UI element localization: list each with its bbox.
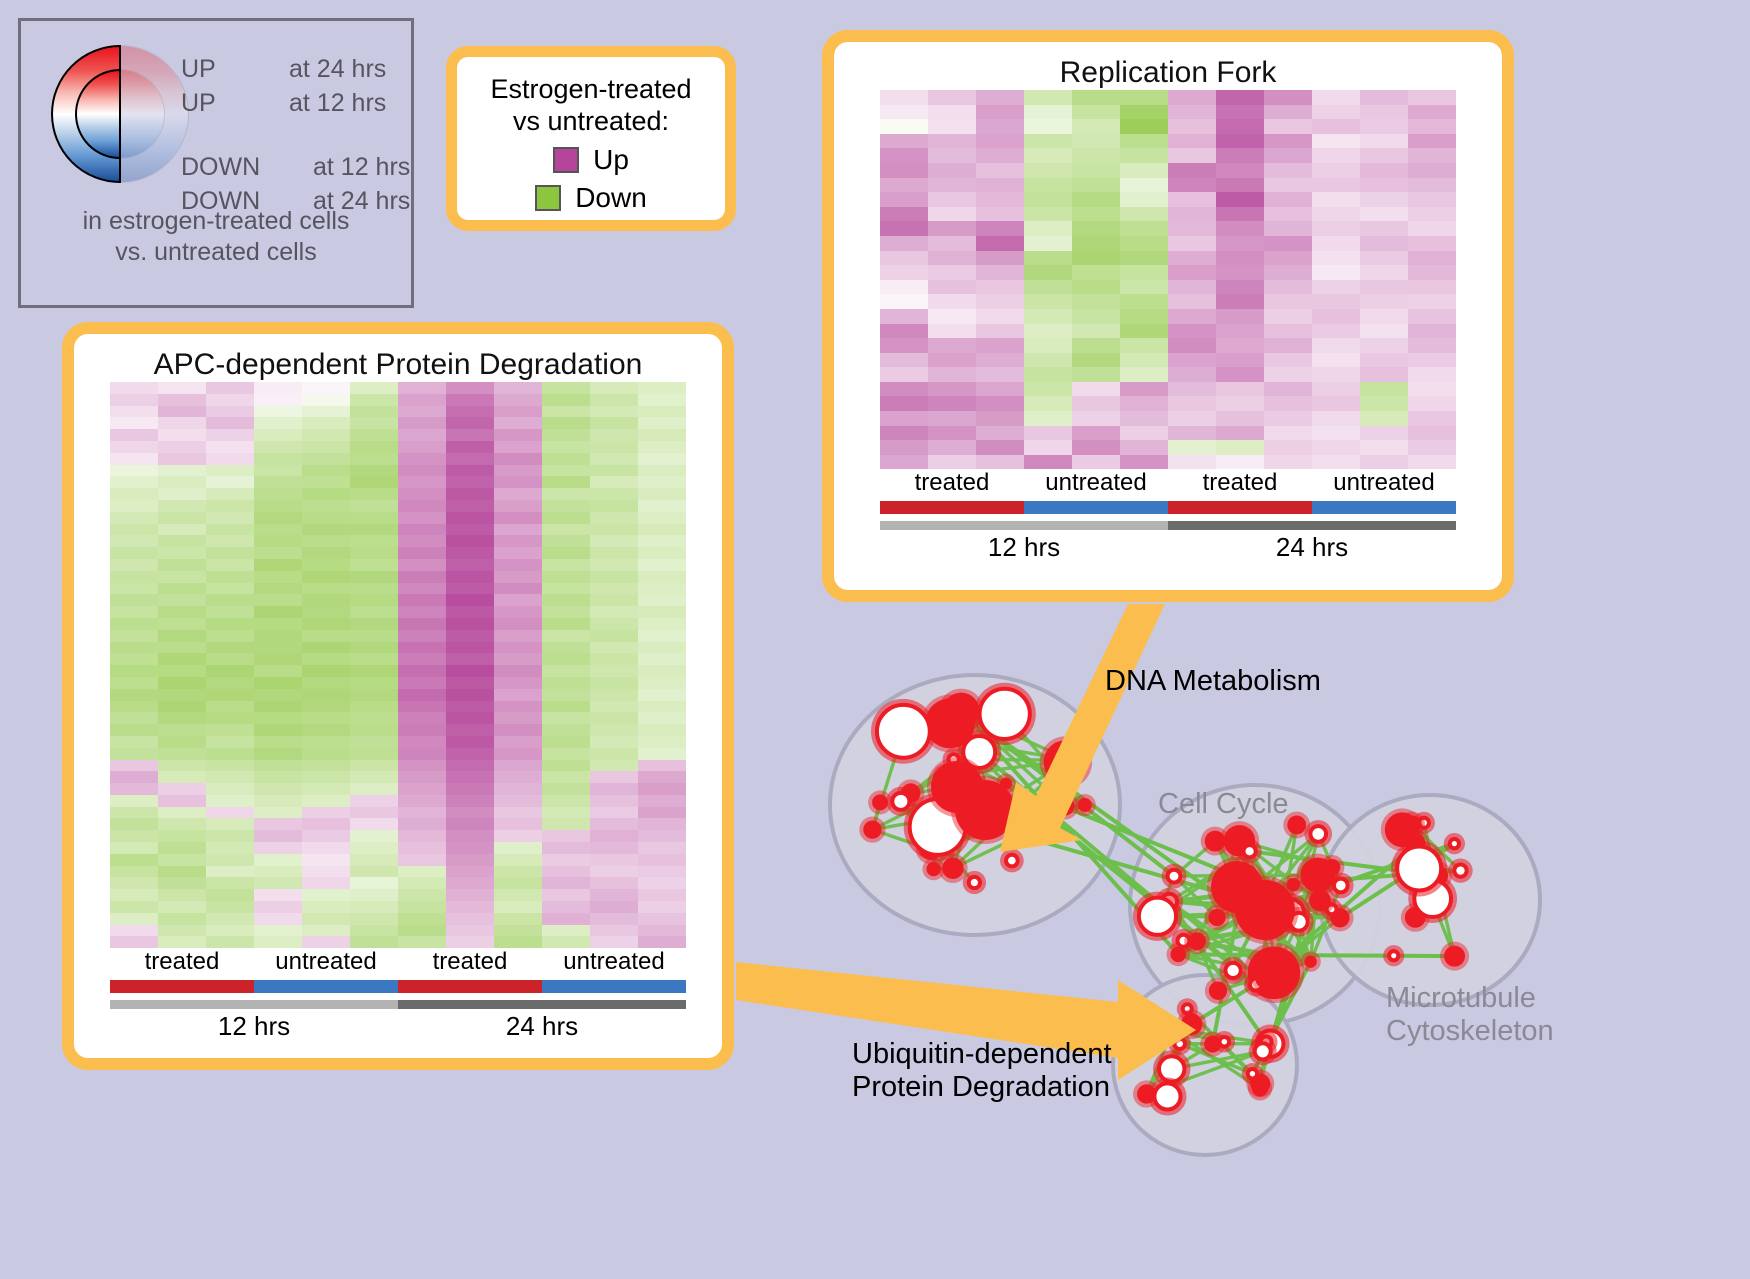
heatmap-cell bbox=[1408, 426, 1456, 441]
condition-colour-segment bbox=[880, 501, 1024, 514]
heatmap-cell bbox=[1120, 338, 1168, 353]
heatmap-cell bbox=[590, 547, 638, 559]
heatmap-cell bbox=[1264, 411, 1312, 426]
heatmap-cell bbox=[158, 901, 206, 913]
heatmap-cell bbox=[1072, 178, 1120, 193]
heatmap-cell bbox=[638, 429, 686, 441]
heatmap-cell bbox=[446, 394, 494, 406]
heatmap-cell bbox=[446, 500, 494, 512]
heatmap-cell bbox=[254, 642, 302, 654]
heatmap-cell bbox=[1408, 367, 1456, 382]
heatmap-cell bbox=[158, 854, 206, 866]
heatmap-cell bbox=[590, 630, 638, 642]
heatmap-cell bbox=[880, 265, 928, 280]
heatmap-cell bbox=[542, 877, 590, 889]
heatmap-cell bbox=[880, 324, 928, 339]
heatmap-cell bbox=[206, 653, 254, 665]
heatmap-cell bbox=[302, 465, 350, 477]
heatmap-cell bbox=[638, 783, 686, 795]
heatmap-cell bbox=[590, 736, 638, 748]
heatmap-cell bbox=[928, 455, 976, 470]
heatmap-cell bbox=[494, 642, 542, 654]
heatmap-cell bbox=[302, 701, 350, 713]
condition-label: untreated bbox=[254, 948, 398, 976]
heatmap-cell bbox=[976, 134, 1024, 149]
heatmap-cell bbox=[590, 642, 638, 654]
heatmap-cell bbox=[542, 830, 590, 842]
heatmap-cell bbox=[446, 476, 494, 488]
heatmap-cell bbox=[638, 866, 686, 878]
heatmap-cell bbox=[1168, 426, 1216, 441]
heatmap-cell bbox=[590, 724, 638, 736]
heatmap-cell bbox=[446, 488, 494, 500]
heatmap-cell bbox=[494, 689, 542, 701]
heatmap-cell bbox=[1024, 163, 1072, 178]
heatmap-cell bbox=[158, 783, 206, 795]
condition-label: treated bbox=[880, 469, 1024, 497]
cluster-label-cell-cycle: Cell Cycle bbox=[1158, 788, 1289, 821]
heatmap-cell bbox=[302, 901, 350, 913]
heatmap-cell bbox=[1024, 119, 1072, 134]
heatmap-cell bbox=[158, 618, 206, 630]
heatmap-cell bbox=[1024, 178, 1072, 193]
heatmap-cell bbox=[494, 866, 542, 878]
heatmap-cell bbox=[302, 583, 350, 595]
heatmap-cell bbox=[590, 913, 638, 925]
heatmap-cell bbox=[1216, 163, 1264, 178]
heatmap-cell bbox=[206, 830, 254, 842]
heatmap-cell bbox=[446, 441, 494, 453]
heatmap-cell bbox=[254, 748, 302, 760]
heatmap-cell bbox=[110, 701, 158, 713]
heatmap-cell bbox=[494, 736, 542, 748]
heatmap-cell bbox=[1312, 192, 1360, 207]
heatmap-cell bbox=[880, 163, 928, 178]
heatmap-cell bbox=[976, 148, 1024, 163]
heatmap-cell bbox=[302, 807, 350, 819]
heatmap-cell bbox=[350, 559, 398, 571]
heatmap-cell bbox=[398, 842, 446, 854]
heatmap-cell bbox=[590, 512, 638, 524]
heatmap-cell bbox=[1216, 90, 1264, 105]
heatmap-cell bbox=[638, 712, 686, 724]
heatmap-cell bbox=[1168, 105, 1216, 120]
heatmap-cell bbox=[206, 630, 254, 642]
heatmap-cell bbox=[350, 689, 398, 701]
heatmap-cell bbox=[446, 854, 494, 866]
heatmap-cell bbox=[590, 689, 638, 701]
heatmap-cell bbox=[446, 866, 494, 878]
heatmap-cell bbox=[542, 936, 590, 948]
heatmap-cell bbox=[110, 594, 158, 606]
heatmap-cell bbox=[398, 441, 446, 453]
heatmap-cell bbox=[928, 236, 976, 251]
heatmap-cell bbox=[928, 426, 976, 441]
heatmap-cell bbox=[542, 535, 590, 547]
heatmap-cell bbox=[880, 455, 928, 470]
heatmap-cell bbox=[1312, 119, 1360, 134]
legend-footnote: in estrogen-treated cells vs. untreated … bbox=[21, 206, 411, 269]
heatmap-cell bbox=[254, 559, 302, 571]
heatmap-cell bbox=[302, 889, 350, 901]
heatmap-cell bbox=[1408, 309, 1456, 324]
heatmap-cell bbox=[446, 701, 494, 713]
heatmap-cell bbox=[1024, 338, 1072, 353]
heatmap-cell bbox=[1072, 396, 1120, 411]
heatmap-cell bbox=[880, 294, 928, 309]
heatmap-cell bbox=[976, 265, 1024, 280]
heatmap-cell bbox=[1312, 455, 1360, 470]
heatmap-cell bbox=[976, 396, 1024, 411]
wheel-row-1-time: at 12 hrs bbox=[289, 89, 386, 118]
up-down-legend-panel: Estrogen-treated vs untreated: Up Down bbox=[446, 46, 736, 231]
heatmap-cell bbox=[302, 441, 350, 453]
heatmap-cell bbox=[158, 877, 206, 889]
heatmap-cell bbox=[494, 677, 542, 689]
heatmap-cell bbox=[206, 500, 254, 512]
heatmap-cell bbox=[254, 854, 302, 866]
heatmap-cell bbox=[446, 807, 494, 819]
heatmap-cell bbox=[350, 512, 398, 524]
heatmap-cell bbox=[302, 512, 350, 524]
heatmap-cell bbox=[638, 512, 686, 524]
heatmap-cell bbox=[880, 148, 928, 163]
heatmap-cell bbox=[1264, 426, 1312, 441]
heatmap-cell bbox=[110, 453, 158, 465]
heatmap-cell bbox=[158, 394, 206, 406]
heatmap-cell bbox=[110, 795, 158, 807]
heatmap-cell bbox=[1024, 426, 1072, 441]
heatmap-cell bbox=[206, 382, 254, 394]
heatmap-cell bbox=[638, 642, 686, 654]
heatmap-cell bbox=[302, 594, 350, 606]
heatmap-cell bbox=[158, 547, 206, 559]
heatmap-cell bbox=[110, 724, 158, 736]
heatmap-cell bbox=[542, 866, 590, 878]
heatmap-cell bbox=[1120, 309, 1168, 324]
wheel-axis bbox=[119, 45, 121, 183]
heatmap-cell bbox=[302, 500, 350, 512]
heatmap-cell bbox=[398, 500, 446, 512]
heatmap-cell bbox=[638, 441, 686, 453]
heatmap-cell bbox=[254, 830, 302, 842]
heatmap-cell bbox=[158, 465, 206, 477]
heatmap-cell bbox=[638, 665, 686, 677]
heatmap-cell bbox=[1312, 294, 1360, 309]
heatmap-cell bbox=[398, 760, 446, 772]
heatmap-cell bbox=[494, 653, 542, 665]
heatmap-cell bbox=[638, 901, 686, 913]
heatmap-cell bbox=[398, 866, 446, 878]
heatmap-cell bbox=[1408, 236, 1456, 251]
heatmap-cell bbox=[1168, 309, 1216, 324]
heatmap-cell bbox=[1168, 455, 1216, 470]
heatmap-cell bbox=[254, 512, 302, 524]
heatmap-cell bbox=[494, 748, 542, 760]
heatmap-cell bbox=[1024, 440, 1072, 455]
heatmap-cell bbox=[880, 367, 928, 382]
heatmap-cell bbox=[110, 476, 158, 488]
heatmap-cell bbox=[158, 665, 206, 677]
heatmap-cell bbox=[446, 712, 494, 724]
heatmap-cell bbox=[1408, 163, 1456, 178]
heatmap-cell bbox=[880, 280, 928, 295]
heatmap-cell bbox=[302, 382, 350, 394]
heatmap-cell bbox=[1168, 221, 1216, 236]
heatmap-cell bbox=[1072, 455, 1120, 470]
wheel-row-1-direction: UP bbox=[181, 89, 216, 118]
heatmap-cell bbox=[254, 901, 302, 913]
heatmap-cell bbox=[1360, 148, 1408, 163]
heatmap-cell bbox=[1264, 236, 1312, 251]
condition-colour-segment bbox=[1168, 501, 1312, 514]
heatmap-cell bbox=[1072, 148, 1120, 163]
heatmap-cell bbox=[590, 406, 638, 418]
heatmap-cell bbox=[638, 465, 686, 477]
heatmap-cell bbox=[1360, 411, 1408, 426]
heatmap-cell bbox=[1168, 178, 1216, 193]
heatmap-cell bbox=[398, 712, 446, 724]
heatmap-cell bbox=[1360, 90, 1408, 105]
heatmap-cell bbox=[1312, 178, 1360, 193]
heatmap-cell bbox=[638, 653, 686, 665]
heatmap-cell bbox=[1312, 163, 1360, 178]
replication-fork-condition-labels: treateduntreatedtreateduntreated bbox=[880, 469, 1456, 497]
heatmap-cell bbox=[638, 500, 686, 512]
heatmap-cell bbox=[1360, 455, 1408, 470]
heatmap-cell bbox=[542, 465, 590, 477]
heatmap-cell bbox=[110, 417, 158, 429]
heatmap-cell bbox=[446, 925, 494, 937]
heatmap-cell bbox=[590, 760, 638, 772]
heatmap-cell bbox=[494, 618, 542, 630]
heatmap-cell bbox=[302, 771, 350, 783]
heatmap-cell bbox=[398, 854, 446, 866]
up-down-legend-heading-line1: Estrogen-treated bbox=[457, 73, 725, 105]
heatmap-cell bbox=[302, 748, 350, 760]
heatmap-cell bbox=[350, 571, 398, 583]
heatmap-cell bbox=[446, 382, 494, 394]
wheel-row-2-direction: DOWN bbox=[181, 153, 260, 182]
heatmap-cell bbox=[1360, 396, 1408, 411]
heatmap-cell bbox=[928, 221, 976, 236]
heatmap-cell bbox=[976, 207, 1024, 222]
heatmap-cell bbox=[158, 524, 206, 536]
heatmap-cell bbox=[446, 571, 494, 583]
heatmap-cell bbox=[638, 453, 686, 465]
heatmap-cell bbox=[1360, 309, 1408, 324]
heatmap-cell bbox=[590, 748, 638, 760]
heatmap-cell bbox=[206, 571, 254, 583]
apc-degradation-heatmap bbox=[110, 382, 686, 948]
heatmap-cell bbox=[254, 453, 302, 465]
heatmap-cell bbox=[398, 783, 446, 795]
heatmap-cell bbox=[494, 571, 542, 583]
heatmap-cell bbox=[638, 559, 686, 571]
heatmap-cell bbox=[110, 677, 158, 689]
heatmap-cell bbox=[350, 524, 398, 536]
heatmap-cell bbox=[350, 665, 398, 677]
heatmap-cell bbox=[494, 783, 542, 795]
heatmap-cell bbox=[494, 406, 542, 418]
heatmap-cell bbox=[206, 618, 254, 630]
heatmap-cell bbox=[976, 411, 1024, 426]
heatmap-cell bbox=[350, 547, 398, 559]
heatmap-cell bbox=[350, 866, 398, 878]
time-label: 24 hrs bbox=[398, 1011, 686, 1042]
heatmap-cell bbox=[542, 606, 590, 618]
heatmap-cell bbox=[350, 783, 398, 795]
heatmap-cell bbox=[110, 783, 158, 795]
heatmap-cell bbox=[1072, 338, 1120, 353]
time-colour-segment bbox=[110, 1000, 398, 1009]
heatmap-cell bbox=[446, 630, 494, 642]
heatmap-cell bbox=[1264, 338, 1312, 353]
heatmap-cell bbox=[254, 677, 302, 689]
heatmap-cell bbox=[1216, 134, 1264, 149]
heatmap-cell bbox=[638, 571, 686, 583]
heatmap-cell bbox=[398, 571, 446, 583]
heatmap-cell bbox=[350, 901, 398, 913]
heatmap-cell bbox=[1024, 207, 1072, 222]
up-down-legend-heading-line2: vs untreated: bbox=[457, 105, 725, 137]
heatmap-cell bbox=[158, 771, 206, 783]
heatmap-cell bbox=[1264, 353, 1312, 368]
heatmap-cell bbox=[350, 736, 398, 748]
heatmap-cell bbox=[1264, 163, 1312, 178]
apc-degradation-panel: APC-dependent Protein Degradation treate… bbox=[62, 322, 734, 1070]
heatmap-cell bbox=[976, 367, 1024, 382]
heatmap-cell bbox=[398, 748, 446, 760]
heatmap-cell bbox=[880, 338, 928, 353]
heatmap-cell bbox=[446, 606, 494, 618]
heatmap-cell bbox=[1024, 309, 1072, 324]
heatmap-cell bbox=[446, 429, 494, 441]
heatmap-cell bbox=[1120, 178, 1168, 193]
heatmap-cell bbox=[542, 913, 590, 925]
heatmap-cell bbox=[1312, 236, 1360, 251]
heatmap-cell bbox=[590, 842, 638, 854]
heatmap-cell bbox=[446, 547, 494, 559]
heatmap-cell bbox=[1264, 265, 1312, 280]
heatmap-cell bbox=[302, 830, 350, 842]
heatmap-cell bbox=[590, 677, 638, 689]
heatmap-cell bbox=[1072, 411, 1120, 426]
heatmap-cell bbox=[638, 724, 686, 736]
heatmap-cell bbox=[638, 936, 686, 948]
heatmap-cell bbox=[206, 689, 254, 701]
heatmap-cell bbox=[446, 877, 494, 889]
heatmap-cell bbox=[446, 736, 494, 748]
heatmap-cell bbox=[302, 653, 350, 665]
heatmap-cell bbox=[206, 453, 254, 465]
heatmap-cell bbox=[398, 547, 446, 559]
heatmap-cell bbox=[976, 426, 1024, 441]
heatmap-cell bbox=[1072, 134, 1120, 149]
heatmap-cell bbox=[302, 453, 350, 465]
heatmap-cell bbox=[1408, 440, 1456, 455]
heatmap-cell bbox=[494, 594, 542, 606]
heatmap-cell bbox=[1168, 265, 1216, 280]
heatmap-cell bbox=[590, 889, 638, 901]
heatmap-cell bbox=[590, 701, 638, 713]
heatmap-cell bbox=[976, 338, 1024, 353]
heatmap-cell bbox=[1408, 294, 1456, 309]
heatmap-cell bbox=[590, 583, 638, 595]
apc-degradation-title: APC-dependent Protein Degradation bbox=[74, 348, 722, 382]
heatmap-cell bbox=[398, 665, 446, 677]
heatmap-cell bbox=[494, 701, 542, 713]
heatmap-cell bbox=[976, 251, 1024, 266]
heatmap-cell bbox=[110, 925, 158, 937]
heatmap-cell bbox=[494, 807, 542, 819]
heatmap-cell bbox=[1168, 148, 1216, 163]
heatmap-cell bbox=[1120, 134, 1168, 149]
heatmap-cell bbox=[638, 771, 686, 783]
heatmap-cell bbox=[880, 396, 928, 411]
heatmap-cell bbox=[1120, 221, 1168, 236]
heatmap-cell bbox=[1408, 178, 1456, 193]
heatmap-cell bbox=[638, 630, 686, 642]
heatmap-cell bbox=[1168, 192, 1216, 207]
heatmap-cell bbox=[350, 913, 398, 925]
heatmap-cell bbox=[350, 677, 398, 689]
heatmap-cell bbox=[302, 429, 350, 441]
cluster-label-ubiquitin-degradation: Ubiquitin-dependent Protein Degradation bbox=[852, 1038, 1112, 1104]
heatmap-cell bbox=[1120, 440, 1168, 455]
apc-time-bar bbox=[110, 1000, 686, 1009]
heatmap-cell bbox=[110, 936, 158, 948]
heatmap-cell bbox=[1264, 440, 1312, 455]
heatmap-cell bbox=[254, 524, 302, 536]
heatmap-cell bbox=[206, 642, 254, 654]
heatmap-cell bbox=[638, 736, 686, 748]
replication-fork-title: Replication Fork bbox=[834, 56, 1502, 90]
heatmap-cell bbox=[976, 163, 1024, 178]
heatmap-cell bbox=[110, 441, 158, 453]
heatmap-cell bbox=[446, 535, 494, 547]
heatmap-cell bbox=[446, 889, 494, 901]
heatmap-cell bbox=[350, 830, 398, 842]
heatmap-cell bbox=[1072, 367, 1120, 382]
heatmap-cell bbox=[1072, 280, 1120, 295]
heatmap-cell bbox=[350, 488, 398, 500]
heatmap-cell bbox=[350, 653, 398, 665]
colour-wheel-legend: UP at 24 hrs UP at 12 hrs DOWN at 12 hrs… bbox=[18, 18, 414, 308]
heatmap-cell bbox=[302, 913, 350, 925]
heatmap-cell bbox=[590, 783, 638, 795]
heatmap-cell bbox=[1264, 134, 1312, 149]
heatmap-cell bbox=[158, 689, 206, 701]
heatmap-cell bbox=[1120, 119, 1168, 134]
heatmap-cell bbox=[1168, 396, 1216, 411]
heatmap-cell bbox=[446, 642, 494, 654]
heatmap-cell bbox=[1312, 338, 1360, 353]
heatmap-cell bbox=[158, 417, 206, 429]
heatmap-cell bbox=[1216, 367, 1264, 382]
heatmap-cell bbox=[158, 889, 206, 901]
heatmap-cell bbox=[398, 476, 446, 488]
heatmap-cell bbox=[880, 90, 928, 105]
heatmap-cell bbox=[110, 524, 158, 536]
heatmap-cell bbox=[1024, 294, 1072, 309]
heatmap-cell bbox=[1024, 221, 1072, 236]
heatmap-cell bbox=[542, 417, 590, 429]
condition-label: treated bbox=[398, 948, 542, 976]
heatmap-cell bbox=[206, 736, 254, 748]
heatmap-cell bbox=[350, 453, 398, 465]
heatmap-cell bbox=[206, 771, 254, 783]
